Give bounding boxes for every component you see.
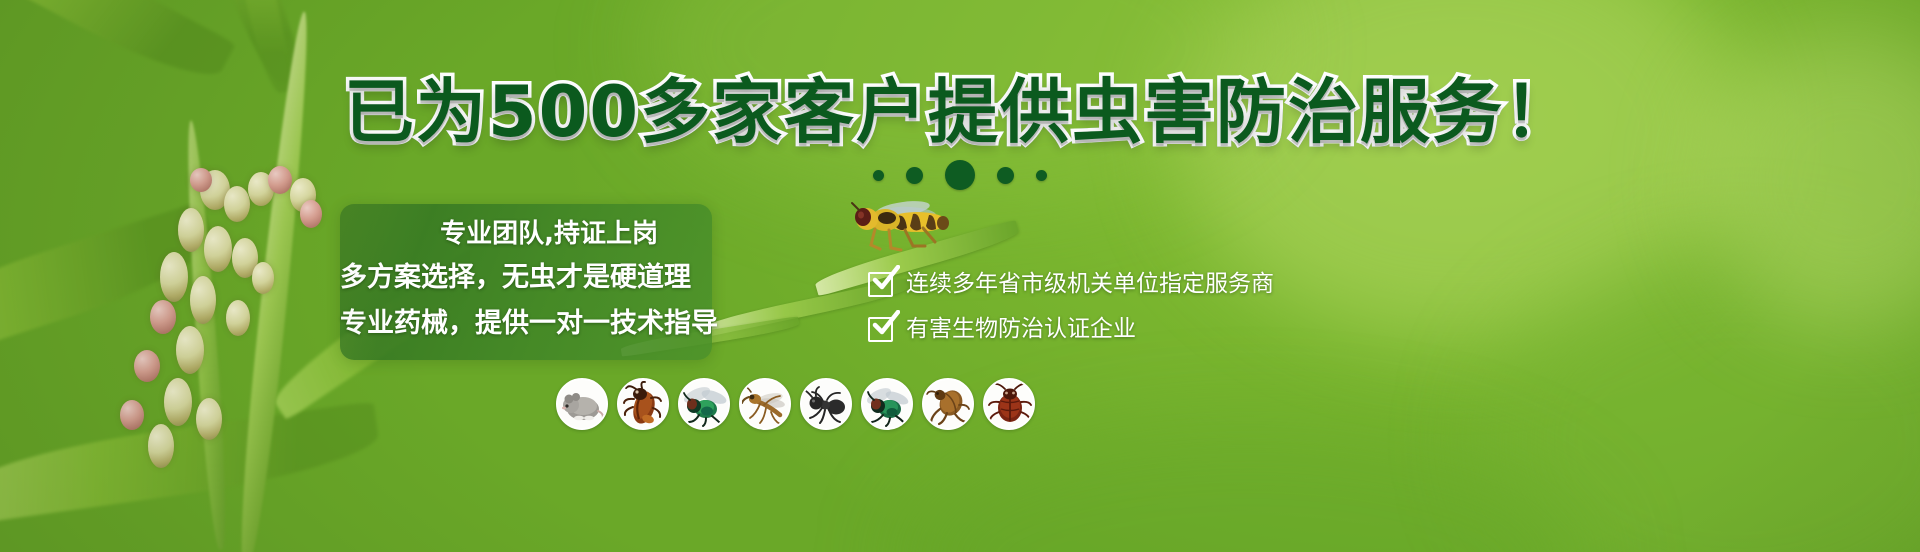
banner-headline: 已为500多家客户提供虫害防治服务！ (0, 74, 1920, 150)
background-bokeh-2 (1480, 250, 1920, 552)
checkbox-checked-icon (868, 272, 893, 297)
plant-bud (252, 262, 274, 294)
blowfly-icon[interactable] (861, 378, 913, 430)
hoverfly-illustration (845, 196, 960, 258)
plant-bud (164, 378, 192, 426)
credential-label: 有害生物防治认证企业 (906, 317, 1136, 342)
flea-icon[interactable] (922, 378, 974, 430)
plant-bud (148, 424, 174, 468)
mouse-icon[interactable] (556, 378, 608, 430)
cockroach-icon[interactable] (617, 378, 669, 430)
selling-point-line-2: 多方案选择，无虫才是硬道理 (340, 255, 694, 301)
background-bokeh-4 (900, 420, 1600, 552)
decorative-dot (997, 167, 1014, 184)
credential-row: 有害生物防治认证企业 (868, 317, 1274, 342)
decorative-dot (945, 160, 975, 190)
plant-bud (300, 200, 322, 228)
green-bottle-fly-icon[interactable] (678, 378, 730, 430)
credentials-checklist: 连续多年省市级机关单位指定服务商 有害生物防治认证企业 (868, 272, 1274, 342)
plant-bud (196, 398, 222, 440)
plant-bud (226, 300, 250, 336)
plant-bud (150, 300, 176, 334)
decorative-dot (906, 167, 923, 184)
credential-row: 连续多年省市级机关单位指定服务商 (868, 272, 1274, 297)
selling-point-line-1: 专业团队,持证上岗 (340, 213, 694, 255)
plant-bud (204, 226, 232, 272)
pest-icons-row (556, 378, 1035, 430)
mosquito-icon[interactable] (739, 378, 791, 430)
plant-bud (160, 252, 188, 302)
plant-bud (190, 276, 216, 324)
banner-headline-text: 已为500多家客户提供虫害防治服务！ (344, 74, 1576, 150)
selling-point-line-3: 专业药械，提供一对一技术指导 (340, 301, 694, 347)
plant-bud (134, 350, 160, 382)
decorative-dots-row (0, 160, 1920, 190)
checkbox-checked-icon (868, 317, 893, 342)
plant-bud (178, 208, 204, 252)
plant-bud (176, 326, 204, 374)
decorative-dot (873, 170, 884, 181)
plant-bud (120, 400, 144, 430)
decorative-dot (1036, 170, 1047, 181)
selling-points-panel: 专业团队,持证上岗 多方案选择，无虫才是硬道理 专业药械，提供一对一技术指导 (340, 204, 712, 360)
credential-label: 连续多年省市级机关单位指定服务商 (906, 272, 1274, 297)
plant-bud (224, 186, 250, 222)
bedbug-icon[interactable] (983, 378, 1035, 430)
leaf-blade-4 (0, 401, 383, 525)
ant-icon[interactable] (800, 378, 852, 430)
promotional-banner: 已为500多家客户提供虫害防治服务！ (0, 0, 1920, 552)
